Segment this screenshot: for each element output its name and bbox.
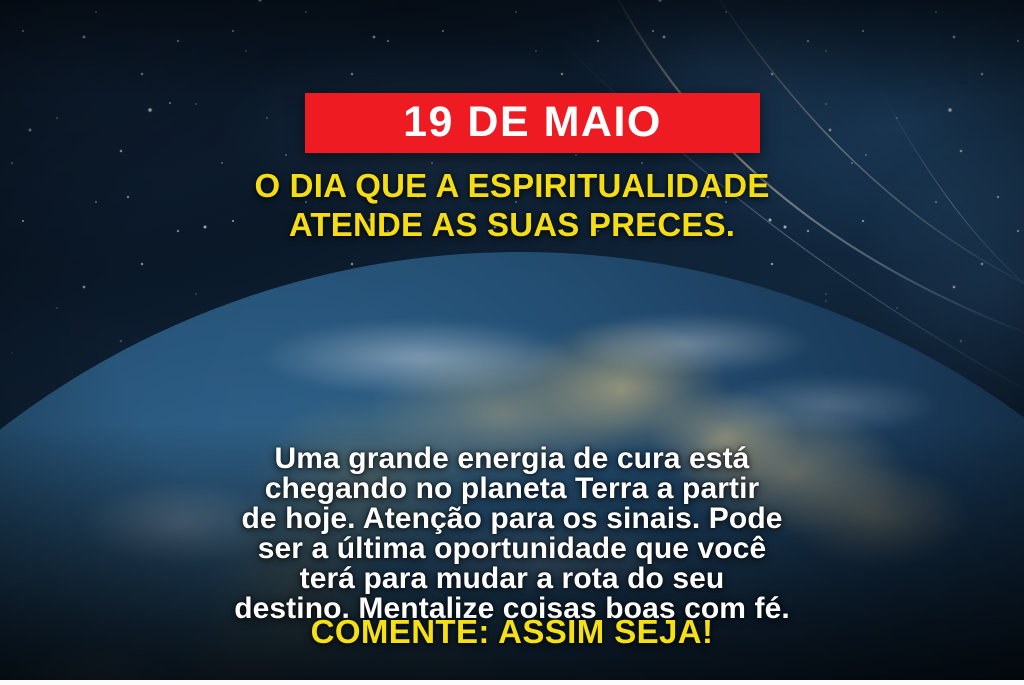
body-paragraph: Uma grande energia de cura está chegando… <box>72 444 952 624</box>
headline-line-2: ATENDE AS SUAS PRECES. <box>0 205 1024 244</box>
bottom-strip <box>0 680 1024 685</box>
body-line-2: chegando no planeta Terra a partir <box>72 474 952 504</box>
headline: O DIA QUE A ESPIRITUALIDADE ATENDE AS SU… <box>0 166 1024 244</box>
headline-line-1: O DIA QUE A ESPIRITUALIDADE <box>0 166 1024 205</box>
body-line-1: Uma grande energia de cura está <box>72 444 952 474</box>
body-line-5: terá para mudar a rota do seu <box>72 564 952 594</box>
poster-canvas: 19 DE MAIO O DIA QUE A ESPIRITUALIDADE A… <box>0 0 1024 685</box>
date-badge-label: 19 DE MAIO <box>403 101 662 144</box>
body-line-4: ser a última oportunidade que você <box>72 534 952 564</box>
call-to-action-text: COMENTE: ASSIM SEJA! <box>0 615 1024 648</box>
date-badge: 19 DE MAIO <box>305 93 760 153</box>
poster-content: 19 DE MAIO O DIA QUE A ESPIRITUALIDADE A… <box>0 0 1024 685</box>
body-line-3: de hoje. Atenção para os sinais. Pode <box>72 504 952 534</box>
